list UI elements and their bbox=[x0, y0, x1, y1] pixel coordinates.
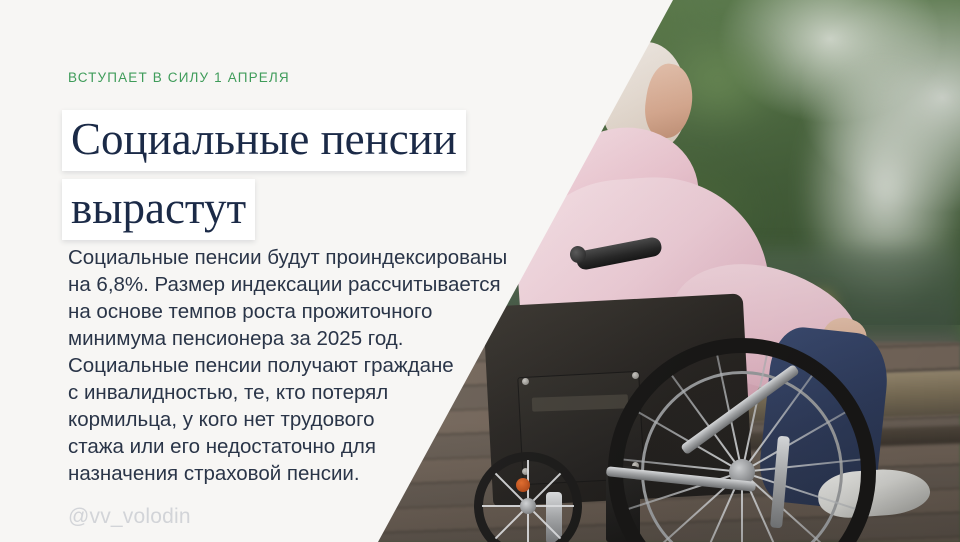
body-line: минимума пенсионера за 2025 год. bbox=[68, 325, 548, 352]
body-line: назначения страховой пенсии. bbox=[68, 460, 548, 487]
page-title: Социальные пенсии вырастут bbox=[62, 110, 522, 248]
headline-line-1: Социальные пенсии bbox=[62, 110, 466, 171]
body-line: кормильца, у кого нет трудового bbox=[68, 406, 548, 433]
body-copy: Социальные пенсии будут проиндексированы… bbox=[68, 244, 548, 487]
text-content: ВСТУПАЕТ В СИЛУ 1 АПРЕЛЯ Социальные пенс… bbox=[0, 0, 960, 542]
headline-line-2: вырастут bbox=[62, 179, 255, 240]
body-line: Социальные пенсии будут проиндексированы bbox=[68, 244, 548, 271]
body-line: на 6,8%. Размер индексации рассчитываетс… bbox=[68, 271, 548, 298]
eyebrow-label: ВСТУПАЕТ В СИЛУ 1 АПРЕЛЯ bbox=[68, 70, 290, 85]
poster-card: ВСТУПАЕТ В СИЛУ 1 АПРЕЛЯ Социальные пенс… bbox=[0, 0, 960, 542]
body-line: Социальные пенсии получают граждане bbox=[68, 352, 548, 379]
body-line: с инвалидностью, те, кто потерял bbox=[68, 379, 548, 406]
body-line: на основе темпов роста прожиточного bbox=[68, 298, 548, 325]
body-line: стажа или его недостаточно для bbox=[68, 433, 548, 460]
channel-handle: @vv_volodin bbox=[68, 505, 191, 529]
